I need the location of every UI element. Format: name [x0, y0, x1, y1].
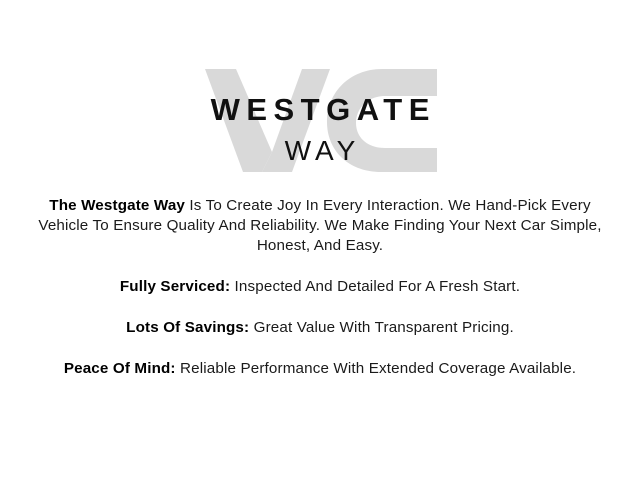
paragraph-lead: The Westgate Way	[49, 197, 185, 214]
paragraph-lead: Lots Of Savings:	[126, 319, 249, 336]
paragraph-fully-serviced: Fully Serviced: Inspected And Detailed F…	[30, 277, 610, 297]
paragraph-text: Inspected And Detailed For A Fresh Start…	[230, 278, 520, 295]
paragraph-lead: Fully Serviced:	[120, 278, 230, 295]
paragraph-the-westgate-way: The Westgate Way Is To Create Joy In Eve…	[30, 196, 610, 256]
paragraph-lead: Peace Of Mind:	[64, 360, 176, 377]
paragraph-peace-of-mind: Peace Of Mind: Reliable Performance With…	[30, 359, 610, 379]
brand-name-primary: WESTGATE	[0, 94, 640, 126]
paragraph-text: Great Value With Transparent Pricing.	[249, 319, 514, 336]
brand-promise-copy: The Westgate Way Is To Create Joy In Eve…	[30, 196, 610, 379]
paragraph-lots-of-savings: Lots Of Savings: Great Value With Transp…	[30, 318, 610, 338]
paragraph-text: Reliable Performance With Extended Cover…	[176, 360, 577, 377]
westgate-way-info-panel: WESTGATE WAY The Westgate Way Is To Crea…	[0, 0, 640, 480]
brand-logo: WESTGATE WAY	[0, 0, 640, 185]
brand-name-secondary: WAY	[0, 136, 640, 166]
brand-logo-text: WESTGATE WAY	[0, 0, 640, 185]
